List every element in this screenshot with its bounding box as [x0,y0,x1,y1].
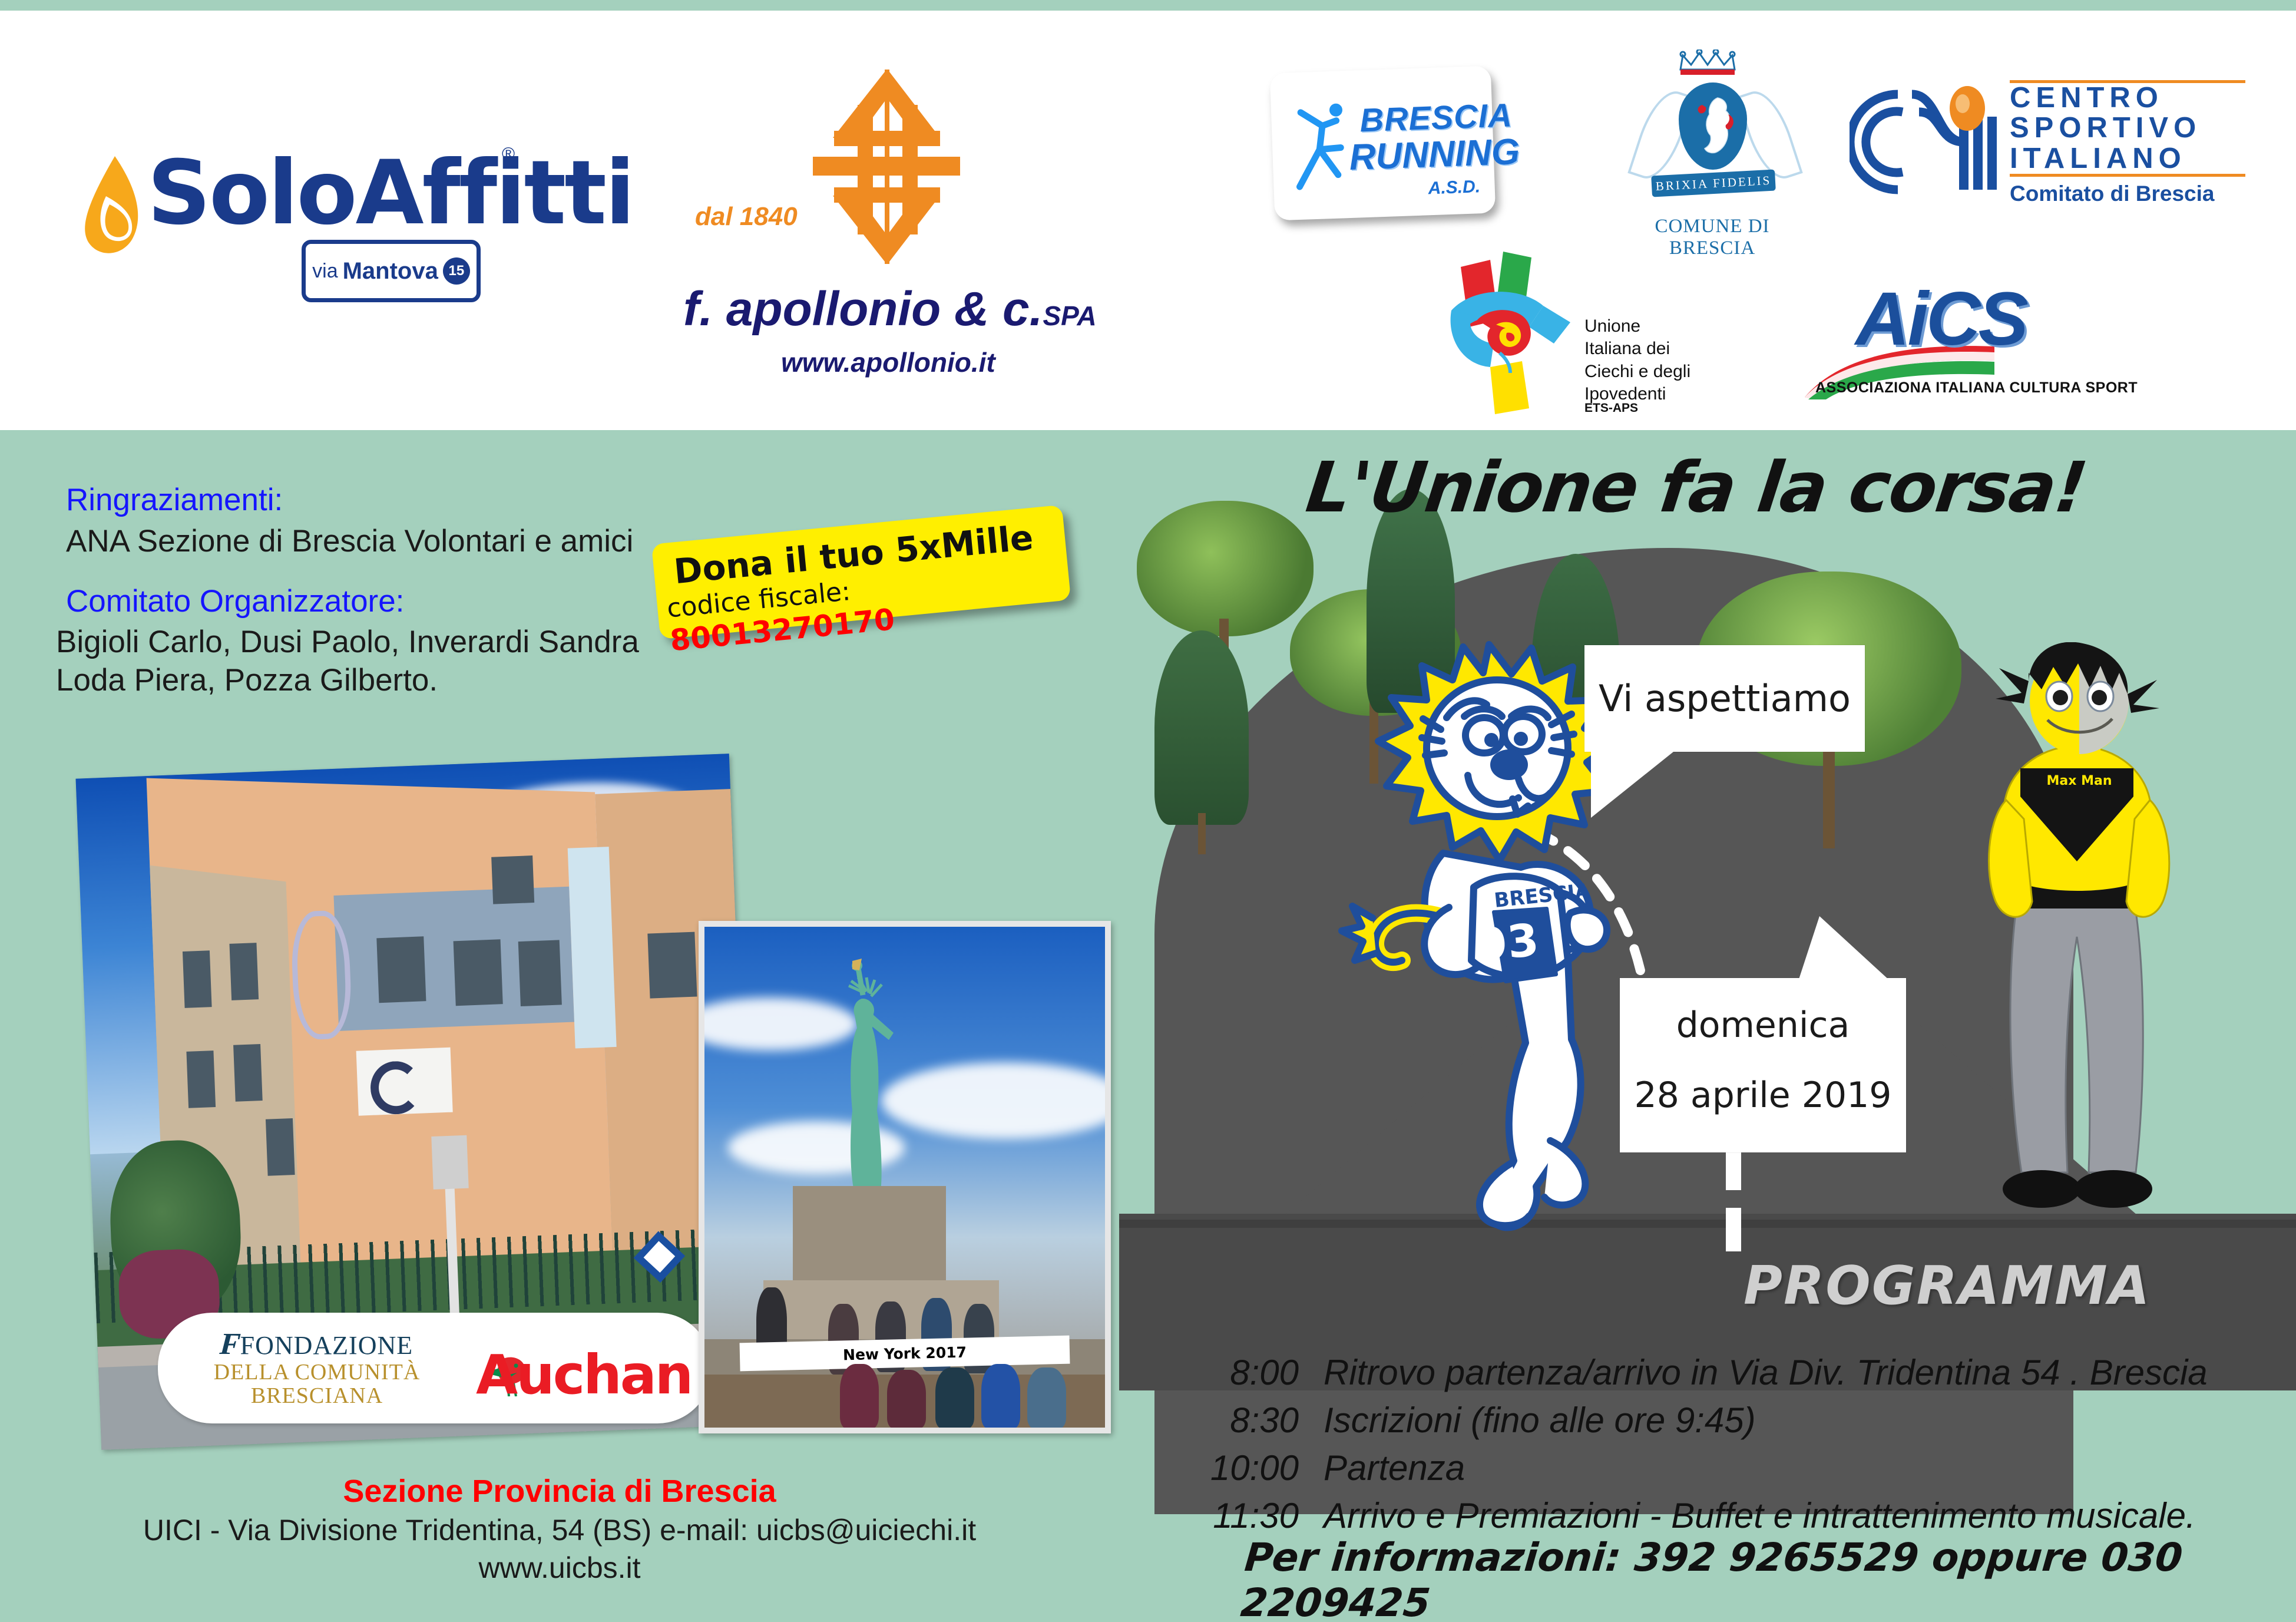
address-line: UICI - Via Divisione Tridentina, 54 (BS)… [0,1513,1119,1547]
photo-window [491,855,534,904]
fondazione-line2: DELLA COMUNITÀ [199,1360,435,1384]
logo-uici: Unione Italiana dei Ciechi e degli Ipove… [1449,249,1708,426]
photo-window [229,943,259,1000]
thanks-label: Ringraziamenti: [66,482,283,518]
schedule-row: 8:00 Ritrovo partenza/arrivo in Via Div.… [1169,1352,2277,1393]
logo-apollonio: dal 1840 f. apollonio & c.SPA www.apollo… [677,70,1090,399]
address-website: www.uicbs.it [0,1551,1119,1585]
logo-soloaffitti: SoloAffitti ® via Mantova 15 [82,114,565,308]
fondazione-line3: BRESCIANA [199,1384,435,1408]
apollonio-website: www.apollonio.it [781,346,995,378]
committee-line-2: Loda Piera, Pozza Gilberto. [56,662,639,700]
apollonio-name-text: f. apollonio & c. [683,282,1043,336]
speech-bubble-date: domenica 28 aprile 2019 [1620,978,1906,1152]
photo-person [1027,1367,1066,1429]
aics-caption: ASSOCIAZIONA ITALIANA CULTURA SPORT [1815,379,2138,397]
organization-address-block: Sezione Provincia di Brescia UICI - Via … [0,1473,1119,1585]
plate-street-name: Mantova [343,258,438,285]
tree-conifer [1154,630,1249,854]
soloaffitti-wordmark: SoloAffitti [147,142,633,245]
apollonio-diamond-icon [801,70,972,264]
logo-fondazione-comunita-bresciana: FFONDAZIONE DELLA COMUNITÀ BRESCIANA [199,1328,435,1408]
plate-via-label: via [312,260,338,283]
rampant-lion-icon [1694,94,1735,159]
photo-window [233,1044,263,1102]
brescia-running-line2: RUNNING [1349,131,1521,179]
apollonio-since-label: dal 1840 [695,202,798,232]
statue-of-liberty-icon [831,957,896,1193]
aics-wordmark: AiCS [1855,276,2026,362]
maxman-chest-label: Max Man [2047,774,2112,788]
photo-new-york-group: New York 2017 [699,921,1111,1433]
photo-window [376,936,426,1003]
logo-csi: CENTRO SPORTIVO ITALIANO Comitato di Bre… [1850,70,2250,217]
speech-bubble-welcome-text: Vi aspettiamo [1586,647,1863,750]
address-section-title: Sezione Provincia di Brescia [0,1473,1119,1509]
lion-jersey-number: 93 [1474,913,1541,972]
csi-line1: CENTRO [2010,83,2245,113]
fondazione-line1: FFONDAZIONE [199,1328,435,1360]
brescia-running-line3: A.S.D. [1428,177,1480,199]
tree-trunk [1823,742,1835,848]
maxman-illustration: Max Man [1985,642,2179,1243]
soloaffitti-drop-icon [82,155,147,261]
committee-members: Bigioli Carlo, Dusi Paolo, Inverardi San… [56,623,639,699]
photo-person [840,1364,879,1429]
csi-rule-bottom [2010,174,2245,177]
uici-legal-suffix: ETS-APS [1584,401,1638,415]
event-poster: SoloAffitti ® via Mantova 15 [0,0,2296,1622]
csi-emblem-icon [1850,86,2003,198]
schedule-time: 10:00 [1169,1448,1324,1488]
logo-brescia-running: BRESCIA RUNNING A.S.D. [1270,66,1496,221]
photo-group-banner-text: New York 2017 [843,1343,967,1363]
tree-crown [1154,630,1249,825]
photo-person [887,1370,926,1429]
schedule-description: Iscrizioni (fino alle ore 9:45) [1324,1400,1756,1441]
schedule-time: 8:00 [1169,1352,1324,1393]
csi-committee: Comitato di Brescia [2010,181,2245,206]
event-schedule: 8:00 Ritrovo partenza/arrivo in Via Div.… [1169,1352,2277,1543]
photo-window [183,950,212,1008]
running-man-icon [1285,97,1359,193]
photo-window [266,1118,295,1176]
photo-window [647,932,697,999]
soloaffitti-registered-mark: ® [502,144,515,164]
apollonio-wordmark: f. apollonio & c.SPA [683,282,1097,337]
logo-auchan: Auchan [476,1343,692,1406]
logo-aics: AiCS ASSOCIAZIONA ITALIANA CULTURA SPORT [1802,276,2097,417]
schedule-time: 8:30 [1169,1400,1324,1441]
photo-window [518,940,562,1006]
speech-bubble-date-line1: domenica [1622,980,1904,1050]
schedule-time: 11:30 [1169,1495,1324,1536]
committee-label: Comitato Organizzatore: [66,583,404,619]
photo-stairwell-glass [568,847,617,1048]
photo-person [981,1364,1020,1429]
uici-line3: Ciechi e degli [1584,361,1690,383]
csi-line3: ITALIANO [2010,144,2245,174]
centerline-dash [1726,1150,1741,1190]
uici-line1: Unione [1584,315,1690,338]
soloaffitti-address-plate: via Mantova 15 [302,240,481,302]
programma-heading: PROGRAMMA [1743,1255,2151,1317]
photo-window [454,939,503,1006]
fondazione-line1-text: FONDAZIONE [240,1331,413,1360]
logo-comune-di-brescia: BRIXIA FIDELIS COMUNE DI BRESCIA [1615,46,1809,246]
brixia-fidelis-motto: BRIXIA FIDELIS [1655,173,1772,193]
centerline-dash [1726,1208,1741,1251]
apollonio-legal-form: SPA [1043,300,1096,331]
contact-info: Per informazioni: 392 9265529 oppure 030… [1239,1535,2296,1622]
maxman-mascot: Max Man [1985,642,2179,1243]
schedule-description: Partenza [1324,1448,1465,1488]
schedule-description: Arrivo e Premiazioni - Buffet e intratte… [1324,1495,2196,1536]
schedule-row: 10:00 Partenza [1169,1448,2277,1488]
committee-line-1: Bigioli Carlo, Dusi Paolo, Inverardi San… [56,623,639,662]
photo-person [935,1367,974,1429]
plate-street-number: 15 [443,257,470,285]
schedule-row: 11:30 Arrivo e Premiazioni - Buffet e in… [1169,1495,2277,1536]
crown-icon [1677,49,1748,77]
sponsor-header-band: SoloAffitti ® via Mantova 15 [0,11,2296,430]
photo-sign-panel [431,1135,468,1190]
uici-line2: Italiana dei [1584,338,1690,360]
csi-wordmark: CENTRO SPORTIVO ITALIANO Comitato di Bre… [2010,80,2245,206]
speech-bubble-date-line2: 28 aprile 2019 [1622,1050,1904,1120]
brixia-fidelis-ribbon: BRIXIA FIDELIS [1651,170,1776,197]
photo-cloud [881,1062,1111,1139]
thanks-text: ANA Sezione di Brescia Volontari e amici [66,523,633,559]
uici-wordmark: Unione Italiana dei Ciechi e degli Ipove… [1584,315,1690,406]
photo-sponsor-pill: FFONDAZIONE DELLA COMUNITÀ BRESCIANA Auc… [158,1313,712,1423]
page-title: L'Unione fa la corsa! [1191,447,2202,528]
photo-uici-wall-sign [356,1048,453,1116]
csi-line2: SPORTIVO [2010,113,2245,143]
schedule-row: 8:30 Iscrizioni (fino alle ore 9:45) [1169,1400,2277,1441]
photo-window [186,1050,216,1108]
speech-bubble-welcome: Vi aspettiamo [1584,645,1865,752]
schedule-description: Ritrovo partenza/arrivo in Via Div. Trid… [1324,1352,2208,1393]
uici-eye-icon [1449,249,1579,414]
tree-trunk [1198,813,1206,854]
donation-sticker: Dona il tuo 5xMille codice fiscale: 8001… [651,505,1071,639]
